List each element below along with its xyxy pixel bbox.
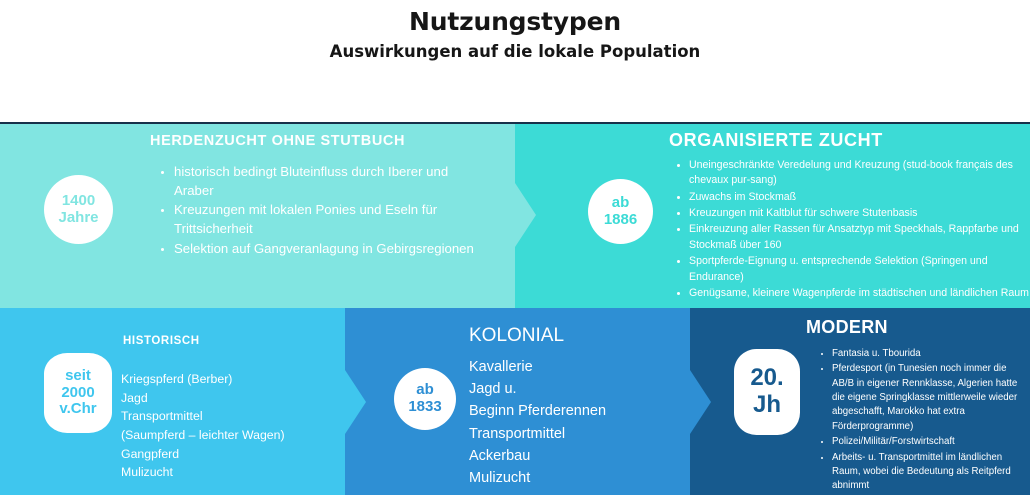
badge-1400-jahre: 1400 Jahre [44,175,113,244]
list-item: Kriegspferd (Berber) [121,370,336,389]
badge-ab-1886: ab 1886 [588,179,653,244]
list-item: Ackerbau [469,445,679,467]
chevron-right-icon-bottom-2 [690,370,711,434]
badge-line: 20. [750,365,783,392]
list-item: Selektion auf Gangveranlagung in Gebirgs… [174,240,474,259]
list-item: Uneingeschränkte Veredelung und Kreuzung… [689,158,1029,189]
list-item: Transportmittel [121,407,336,426]
badge-line: v.Chr [59,401,96,418]
panel-heading-organisierte-zucht: ORGANISIERTE ZUCHT [669,130,883,151]
list-item: Einkreuzung aller Rassen für Ansatztyp m… [689,222,1029,253]
list-item: Fantasia u. Tbourida [832,347,1027,361]
panel-herdenzucht-ohne-stutbuch[interactable]: HERDENZUCHT OHNE STUTBUCH historisch bed… [0,122,515,308]
list-item: Kavallerie [469,356,679,378]
panel-historisch[interactable]: HISTORISCH Kriegspferd (Berber) Jagd Tra… [0,308,345,495]
badge-line: 1886 [604,212,637,229]
badge-line: Jh [753,392,781,419]
panel-list-kolonial: Kavallerie Jagd u. Beginn Pferderennen T… [469,356,679,489]
list-item: Arbeits- u. Transportmittel im ländliche… [832,451,1027,494]
badge-line: 2000 [61,385,94,402]
infographic-root: Nutzungstypen Auswirkungen auf die lokal… [0,0,1030,495]
band-bottom: HISTORISCH Kriegspferd (Berber) Jagd Tra… [0,308,1030,495]
badge-seit-2000-vchr: seit 2000 v.Chr [44,353,112,433]
panel-heading-modern: MODERN [806,317,888,338]
list-item: (Saumpferd – leichter Wagen) [121,426,336,445]
panel-modern[interactable]: MODERN Fantasia u. Tbourida Pferdesport … [690,308,1030,495]
badge-line: seit [65,368,91,385]
list-item: Jagd [121,389,336,408]
list-item: Transportmittel [469,423,679,445]
list-item: Gangpferd [121,445,336,464]
badge-line: ab [416,382,434,399]
list-item: Pferdesport (in Tunesien noch immer die … [832,362,1027,434]
panel-heading-kolonial: KOLONIAL [469,325,564,347]
list-item: Sportpferde-Eignung u. entsprechende Sel… [689,254,1029,285]
panel-organisierte-zucht[interactable]: ORGANISIERTE ZUCHT Uneingeschränkte Vere… [515,122,1030,308]
badge-line: 1400 [62,193,95,210]
panel-kolonial[interactable]: KOLONIAL Kavallerie Jagd u. Beginn Pferd… [345,308,690,495]
header: Nutzungstypen Auswirkungen auf die lokal… [0,0,1030,122]
badge-line: ab [612,195,630,212]
list-item: Jagd u. [469,378,679,400]
panel-list-historisch: Kriegspferd (Berber) Jagd Transportmitte… [121,370,336,482]
list-item: Kreuzungen mit Kaltblut für schwere Stut… [689,206,1029,221]
panel-list-organisierte-zucht: Uneingeschränkte Veredelung und Kreuzung… [675,158,1029,302]
chevron-right-icon-bottom-1 [345,370,366,434]
badge-line: 1833 [408,399,441,416]
page-title: Nutzungstypen [409,8,621,36]
panel-heading-herdenzucht: HERDENZUCHT OHNE STUTBUCH [150,133,405,149]
top-divider-rule [0,122,1030,124]
list-item: Mulizucht [469,467,679,489]
list-item: Mulizucht [121,463,336,482]
badge-ab-1833: ab 1833 [394,368,456,430]
badge-20-jh: 20. Jh [734,349,800,435]
list-item: Zuwachs im Stockmaß [689,190,1029,205]
badge-line: Jahre [58,210,98,227]
list-item: Genügsame, kleinere Wagenpferde im städt… [689,286,1029,301]
list-item: Polizei/Militär/Forstwirtschaft [832,435,1027,449]
panel-heading-historisch: HISTORISCH [123,335,200,347]
band-top: HERDENZUCHT OHNE STUTBUCH historisch bed… [0,122,1030,308]
panel-list-herdenzucht: historisch bedingt Bluteinfluss durch Ib… [160,163,474,260]
panel-list-modern: Fantasia u. Tbourida Pferdesport (in Tun… [818,347,1027,495]
list-item: Beginn Pferderennen [469,400,679,422]
list-item: Kreuzungen mit lokalen Ponies und Eseln … [174,201,474,238]
page-subtitle: Auswirkungen auf die lokale Population [330,43,701,61]
list-item: historisch bedingt Bluteinfluss durch Ib… [174,163,474,200]
chevron-right-icon-top [515,183,536,247]
